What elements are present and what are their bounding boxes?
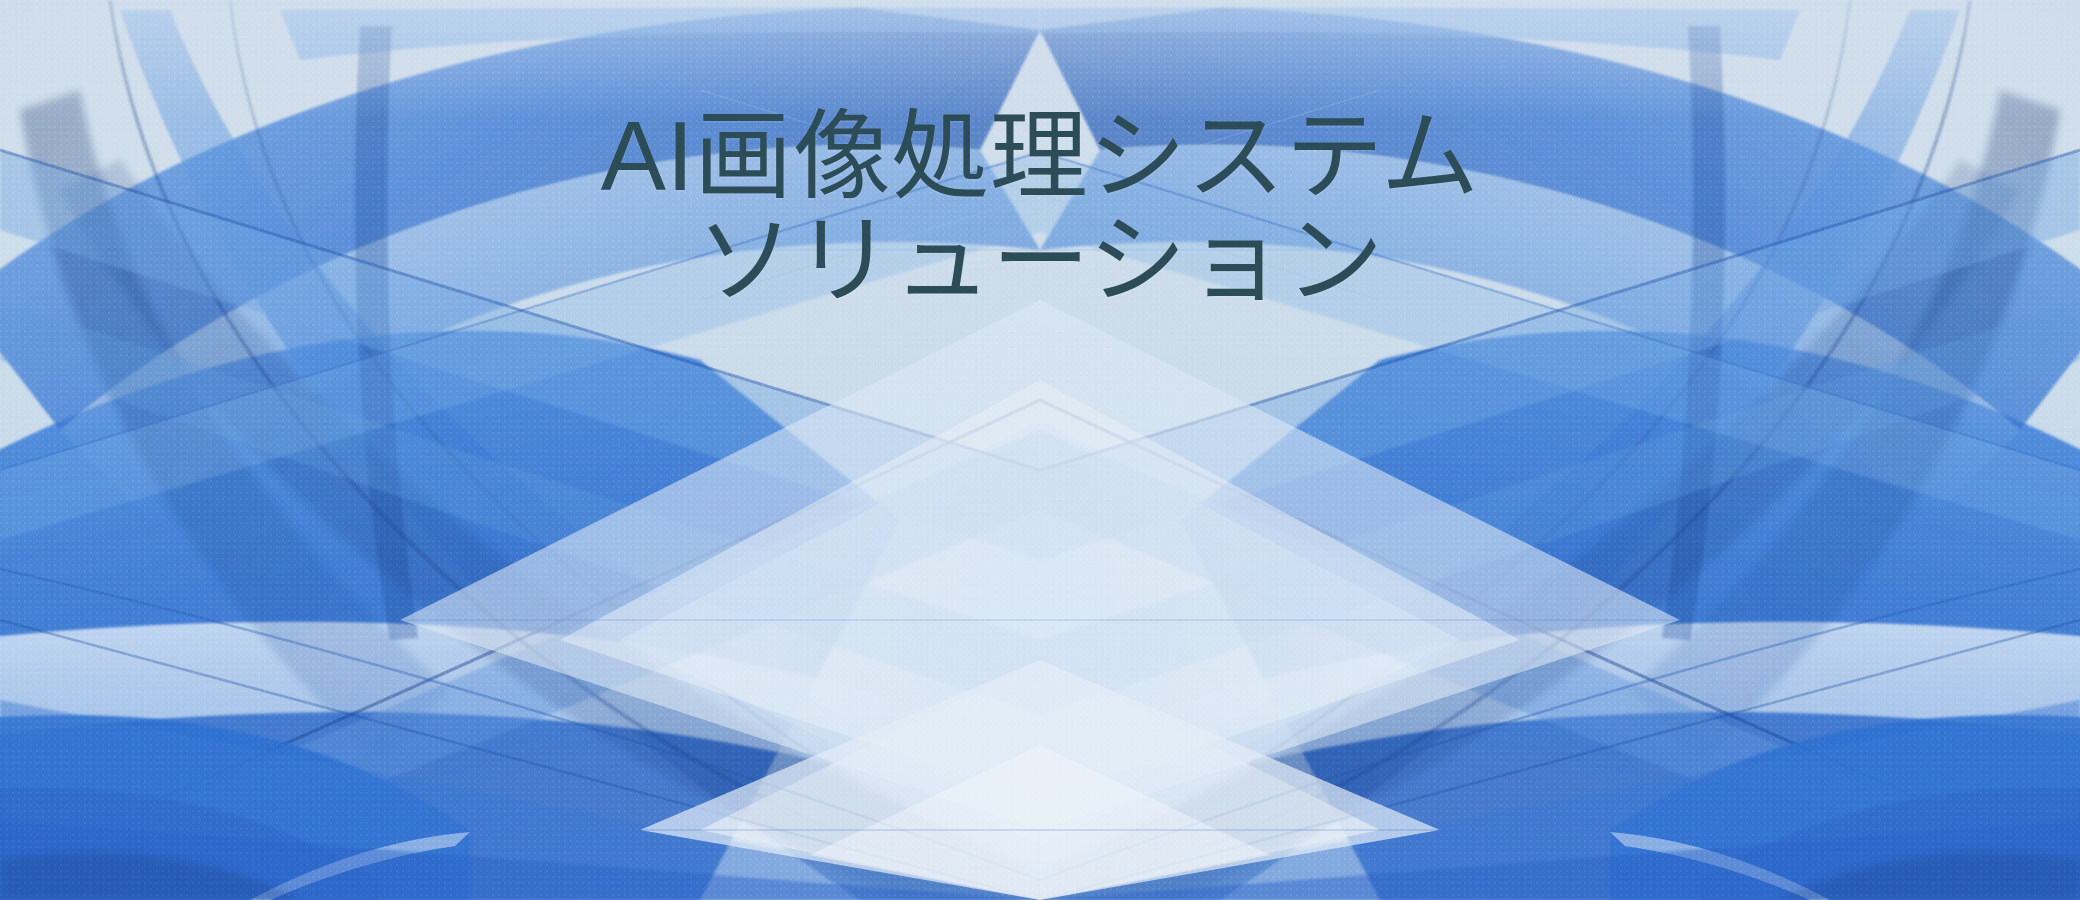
hero-banner: AI画像処理システム ソリューション (0, 0, 2080, 900)
abstract-background (0, 0, 2080, 900)
